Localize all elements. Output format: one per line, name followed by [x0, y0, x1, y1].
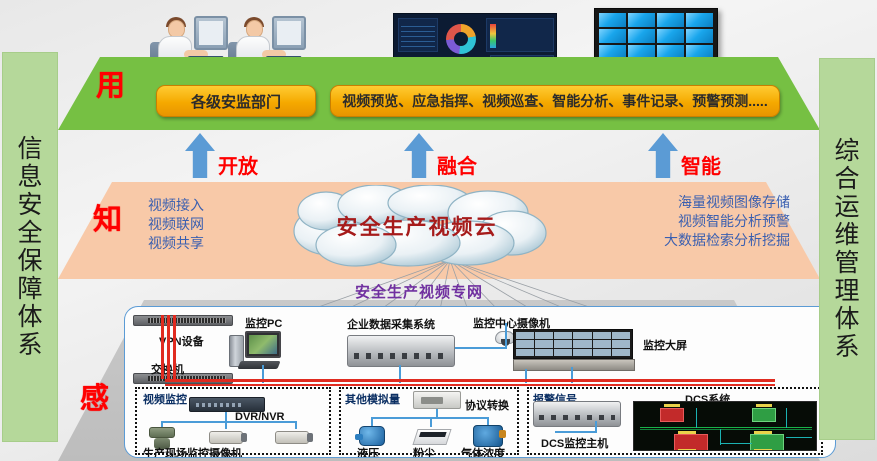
- side-panel-left-char-2: 安: [17, 191, 42, 219]
- monitoring-pc-label: 监控PC: [245, 315, 282, 331]
- layer-sense-tag: 感: [80, 375, 109, 417]
- site-cameras-label: 生产现场监控摄像机: [143, 445, 242, 458]
- arrow-intelligent-icon: [648, 133, 678, 178]
- side-panel-right-char-5: 理: [834, 277, 859, 305]
- know-right-item-0: 海量视频图像存储: [560, 193, 790, 212]
- dcs-host-label: DCS监控主机: [541, 435, 608, 451]
- side-panel-left-char-6: 体: [17, 303, 42, 331]
- monitoring-pc-keyboard: [237, 361, 280, 369]
- arrow-intelligent-label: 智能: [681, 150, 721, 179]
- dust-sensor-icon: [412, 429, 451, 445]
- side-panel-left-char-7: 系: [17, 331, 42, 359]
- monitoring-big-screen-label: 监控大屏: [643, 337, 687, 353]
- side-panel-left-char-1: 息: [17, 163, 42, 191]
- diagram-canvas: 信 息 安 全 保 障 体 系 综 合 运 维 管 理 体 系: [0, 0, 877, 461]
- protocol-converter-label: 协议转换: [465, 397, 509, 413]
- know-left-item-2: 视频共享: [148, 234, 204, 253]
- know-right-item-1: 视频智能分析预警: [560, 212, 790, 231]
- side-panel-operations-management: 综 合 运 维 管 理 体 系: [819, 58, 875, 440]
- arrow-fusion-label: 融合: [437, 150, 477, 179]
- arrow-open-icon: [185, 133, 215, 178]
- monitor-shape: [272, 16, 306, 50]
- side-panel-information-security: 信 息 安 全 保 障 体 系: [2, 52, 58, 442]
- side-panel-left-char-4: 保: [17, 247, 42, 275]
- arrow-fusion-icon: [404, 133, 434, 178]
- side-panel-right-char-6: 体: [834, 305, 859, 333]
- private-network-label: 安全生产视频专网: [355, 281, 483, 302]
- dcs-system-screen: [633, 401, 817, 451]
- gas-concentration-label: 气体浓度: [461, 445, 505, 458]
- monitoring-pc-screen: [245, 331, 281, 358]
- arrow-open-label: 开放: [218, 150, 258, 179]
- vpn-device-label: VPN设备: [159, 333, 204, 349]
- side-panel-right-char-7: 系: [834, 333, 859, 361]
- box-platform-functions[interactable]: 视频预览、应急指挥、视频巡查、智能分析、事件记录、预警预测.....: [330, 85, 780, 117]
- enterprise-data-collector-label: 企业数据采集系统: [347, 316, 435, 332]
- monitoring-big-screen-icon: [513, 329, 633, 359]
- cloud-label: 安全生产视频云: [280, 185, 554, 267]
- hydraulic-label: 液压: [357, 445, 379, 458]
- bullet-camera-icon: [209, 431, 243, 444]
- side-panel-right-char-4: 管: [834, 249, 859, 277]
- layer-use-tag: 用: [96, 62, 125, 104]
- side-panel-left-char-0: 信: [17, 135, 42, 163]
- know-left-item-0: 视频接入: [148, 196, 204, 215]
- side-panel-right-char-2: 运: [834, 193, 859, 221]
- layer-know-tag: 知: [93, 196, 122, 238]
- side-panel-right-char-1: 合: [834, 165, 859, 193]
- know-right-item-2: 大数据检索分析挖掘: [560, 231, 790, 250]
- box-safety-departments[interactable]: 各级安监部门: [156, 85, 316, 117]
- side-panel-right-char-3: 维: [834, 221, 859, 249]
- dashboard-map-panel: [486, 18, 554, 52]
- know-left-item-1: 视频联网: [148, 215, 204, 234]
- monitor-shape: [194, 16, 228, 50]
- know-left-capabilities: 视频接入 视频联网 视频共享: [148, 196, 204, 253]
- control-console-desk: [513, 359, 635, 371]
- group-analog-signals-title: 其他模拟量: [345, 391, 400, 407]
- vpn-device-icon: [133, 315, 233, 326]
- group-video-surveillance-title: 视频监控: [143, 391, 187, 407]
- enterprise-data-collector-icon: [347, 335, 455, 367]
- sense-device-panel: VPN设备 交换机 监控PC 企业数据采集系统 监控中心摄像机 监控大屏: [124, 306, 836, 458]
- hydraulic-sensor-icon: [359, 426, 385, 446]
- dashboard-donut-chart: [446, 24, 476, 54]
- side-panel-left-char-5: 障: [17, 275, 42, 303]
- know-right-capabilities: 海量视频图像存储 视频智能分析预警 大数据检索分析挖掘: [560, 193, 790, 250]
- side-panel-right-char-0: 综: [834, 137, 859, 165]
- gas-sensor-icon: [473, 425, 503, 447]
- bullet-camera-icon-2: [275, 431, 309, 444]
- side-panel-left-char-3: 全: [17, 219, 42, 247]
- dvr-nvr-icon: [189, 397, 265, 412]
- dust-label: 粉尘: [413, 445, 435, 458]
- protocol-converter-icon: [413, 391, 461, 409]
- dcs-host-icon: [533, 401, 621, 427]
